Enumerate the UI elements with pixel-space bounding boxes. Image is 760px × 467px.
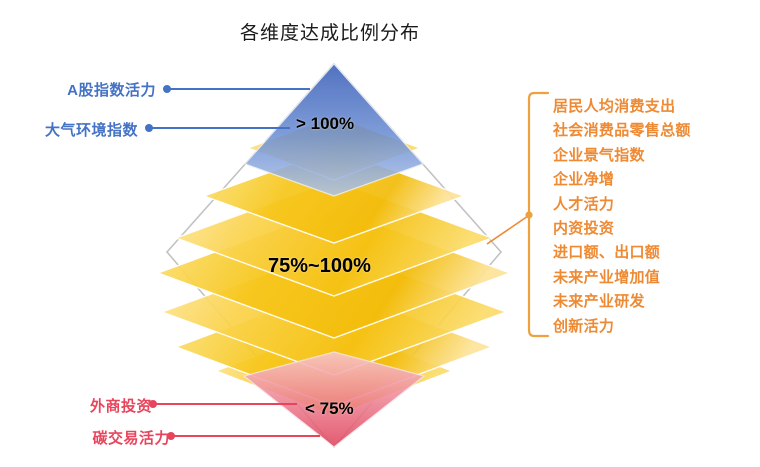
- band-caption-75-to-100: 75%~100%: [268, 255, 371, 278]
- bracket-list-item: 企业景气指数: [553, 144, 753, 168]
- bracket-item-list: 居民人均消费支出社会消费品零售总额企业景气指数企业净增人才活力内资投资进口额、出…: [553, 95, 753, 339]
- bracket-list-item: 人才活力: [553, 193, 753, 217]
- bracket-list-item: 未来产业增加值: [553, 266, 753, 290]
- band-caption-above-100: > 100%: [296, 114, 354, 134]
- connector-dot-air-quality: [145, 124, 153, 132]
- bracket-list-item: 进口额、出口额: [553, 241, 753, 265]
- bracket-connector-line: [487, 216, 528, 244]
- callout-label-a-stock-index-vitality: A股指数活力: [67, 79, 156, 100]
- bracket-list-item: 居民人均消费支出: [553, 95, 753, 119]
- band-caption-below-75: < 75%: [305, 399, 354, 419]
- diagram-canvas: 各维度达成比例分布: [0, 0, 760, 467]
- bracket-connector-dot: [525, 211, 532, 218]
- bracket-list-item: 未来产业研发: [553, 290, 753, 314]
- orange-bracket-callout: [487, 93, 548, 336]
- bracket-list-item: 企业净增: [553, 168, 753, 192]
- bracket-list-item: 社会消费品零售总额: [553, 119, 753, 143]
- callout-label-air-environment-index: 大气环境指数: [45, 119, 138, 140]
- connector-dot-a-stock: [163, 85, 171, 93]
- callout-label-foreign-investment: 外商投资: [90, 395, 152, 416]
- bracket-list-item: 内资投资: [553, 217, 753, 241]
- callout-label-carbon-trading-vitality: 碳交易活力: [92, 427, 170, 448]
- bracket-list-item: 创新活力: [553, 315, 753, 339]
